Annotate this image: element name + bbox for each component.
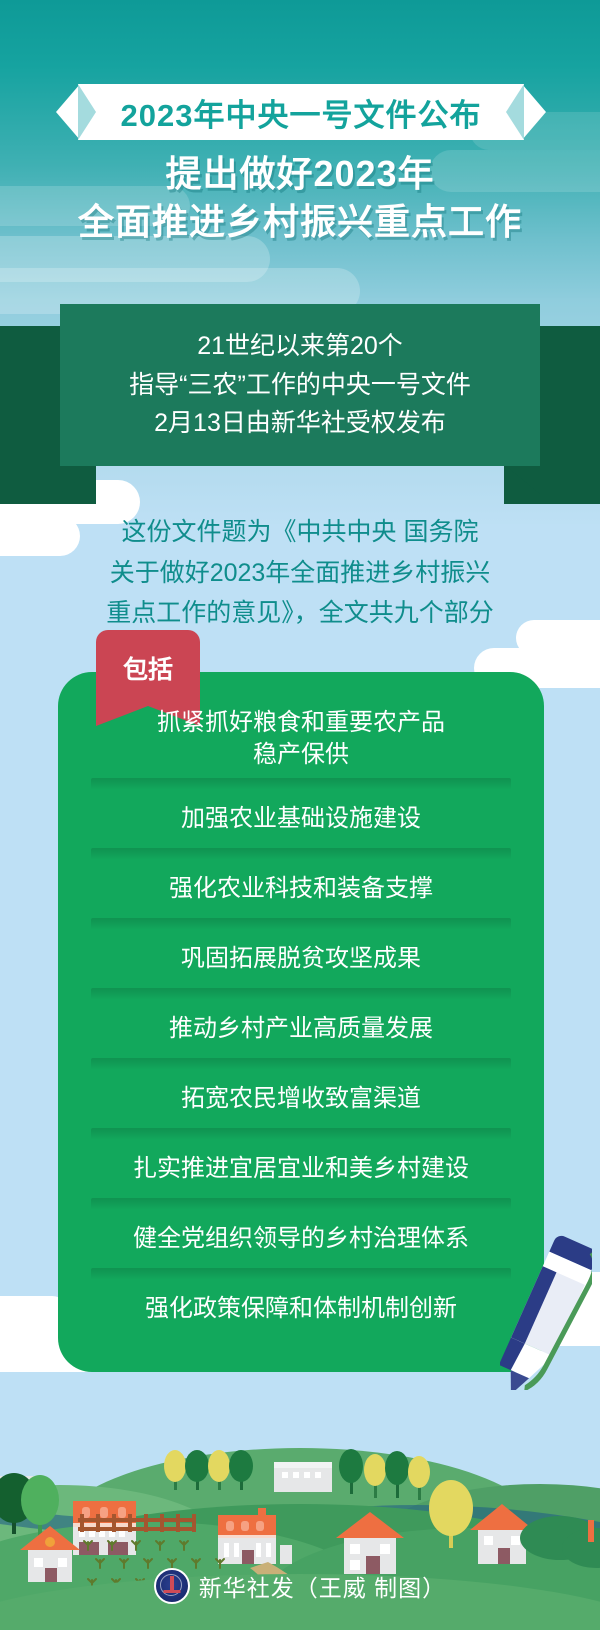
topic-item-label: 抓紧抓好粮食和重要农产品稳产保供 bbox=[157, 707, 445, 771]
pen-icon bbox=[500, 1228, 592, 1408]
credit-text: 新华社发（王威 制图） bbox=[199, 1569, 446, 1603]
intro-line-2: 关于做好2023年全面推进乡村振兴 bbox=[0, 553, 600, 594]
green-banner-text: 21世纪以来第20个 指导“三农”工作的中央一号文件 2月13日由新华社受权发布 bbox=[60, 304, 540, 466]
topic-item[interactable]: 健全党组织领导的乡村治理体系 bbox=[58, 1210, 544, 1268]
topics-panel: 包括 抓紧抓好粮食和重要农产品稳产保供加强农业基础设施建设强化农业科技和装备支撑… bbox=[58, 672, 544, 1372]
topic-item-label: 拓宽农民增收致富渠道 bbox=[181, 1083, 421, 1115]
topics-separator bbox=[91, 1058, 511, 1070]
topics-separator bbox=[91, 1198, 511, 1210]
topic-item[interactable]: 巩固拓展脱贫攻坚成果 bbox=[58, 930, 544, 988]
topic-item[interactable]: 强化政策保障和体制机制创新 bbox=[58, 1280, 544, 1338]
xinhua-logo-icon bbox=[154, 1568, 190, 1604]
intro-line-1: 这份文件题为《中共中央 国务院 bbox=[0, 512, 600, 553]
topics-separator bbox=[91, 1268, 511, 1280]
green-banner-line-2: 指导“三农”工作的中央一号文件 bbox=[129, 366, 471, 405]
green-banner-fold-left-icon bbox=[60, 466, 94, 494]
page-title-line-2: 全面推进乡村振兴重点工作 bbox=[0, 198, 600, 246]
intro-paragraph: 这份文件题为《中共中央 国务院 关于做好2023年全面推进乡村振兴 重点工作的意… bbox=[0, 512, 600, 634]
topic-item[interactable]: 推动乡村产业高质量发展 bbox=[58, 1000, 544, 1058]
topic-item-label: 强化农业科技和装备支撑 bbox=[169, 873, 433, 905]
topic-item[interactable]: 加强农业基础设施建设 bbox=[58, 790, 544, 848]
intro-line-3: 重点工作的意见》，全文共九个部分 bbox=[0, 593, 600, 634]
topics-separator bbox=[91, 778, 511, 790]
ribbon-banner: 2023年中央一号文件公布 bbox=[56, 84, 546, 140]
ribbon-label: 2023年中央一号文件公布 bbox=[56, 84, 546, 140]
topics-separator bbox=[91, 848, 511, 860]
green-banner: 21世纪以来第20个 指导“三农”工作的中央一号文件 2月13日由新华社受权发布 bbox=[0, 304, 600, 482]
green-banner-fold-right-icon bbox=[506, 466, 540, 494]
logo-bar-icon bbox=[163, 1590, 180, 1593]
credit-line: 新华社发（王威 制图） bbox=[0, 1568, 600, 1604]
topic-item-label: 加强农业基础设施建设 bbox=[181, 803, 421, 835]
topic-item-label: 健全党组织领导的乡村治理体系 bbox=[133, 1223, 469, 1255]
topics-list: 抓紧抓好粮食和重要农产品稳产保供加强农业基础设施建设强化农业科技和装备支撑巩固拓… bbox=[58, 672, 544, 1372]
topic-item-label: 推动乡村产业高质量发展 bbox=[169, 1013, 433, 1045]
topic-item-label: 强化政策保障和体制机制创新 bbox=[145, 1293, 457, 1325]
topic-item-label: 巩固拓展脱贫攻坚成果 bbox=[181, 943, 421, 975]
topics-separator bbox=[91, 918, 511, 930]
page-title-line-1: 提出做好2023年 bbox=[0, 150, 600, 198]
topic-item-label: 扎实推进宜居宜业和美乡村建设 bbox=[133, 1153, 469, 1185]
infographic-poster: 2023年中央一号文件公布 提出做好2023年 全面推进乡村振兴重点工作 21世… bbox=[0, 0, 600, 1630]
page-title: 提出做好2023年 全面推进乡村振兴重点工作 bbox=[0, 150, 600, 245]
topic-item[interactable]: 强化农业科技和装备支撑 bbox=[58, 860, 544, 918]
topic-item[interactable]: 扎实推进宜居宜业和美乡村建设 bbox=[58, 1140, 544, 1198]
topic-item[interactable]: 抓紧抓好粮食和重要农产品稳产保供 bbox=[58, 700, 544, 778]
topic-item[interactable]: 拓宽农民增收致富渠道 bbox=[58, 1070, 544, 1128]
topics-separator bbox=[91, 988, 511, 1000]
logo-tower-icon bbox=[170, 1576, 174, 1591]
topics-separator bbox=[91, 1128, 511, 1140]
green-banner-line-1: 21世纪以来第20个 bbox=[197, 327, 403, 366]
green-banner-line-3: 2月13日由新华社受权发布 bbox=[154, 404, 446, 443]
